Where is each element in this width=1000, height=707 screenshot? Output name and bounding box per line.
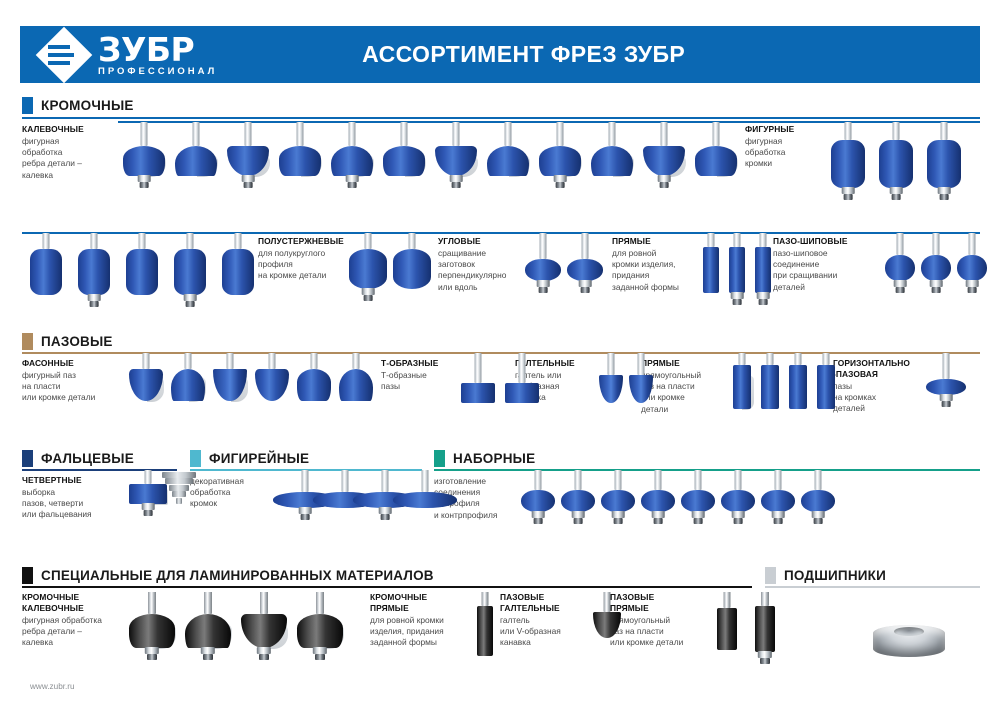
router-bit xyxy=(122,233,162,309)
label-spec-kromochnye-kalevochnye: КРОМОЧНЫЕ КАЛЕВОЧНЫЕ фигурная обработка … xyxy=(22,592,132,649)
router-bit xyxy=(752,233,774,307)
label-desc: прямоугольный паз на пласти или кромке д… xyxy=(610,615,710,649)
rabbet-bearing-set-icon xyxy=(162,472,198,512)
section-chip xyxy=(190,450,201,467)
bearing-product-image xyxy=(873,625,945,657)
router-bit xyxy=(828,122,868,202)
router-bit xyxy=(212,353,248,415)
router-bit xyxy=(956,233,988,295)
section-header-nabornye: НАБОРНЫЕ xyxy=(434,449,535,467)
section-header-figureynye: ФИГИРЕЙНЫЕ xyxy=(190,449,309,467)
section-title: НАБОРНЫЕ xyxy=(453,451,535,466)
router-bit xyxy=(884,233,916,295)
label-title: ПАЗО-ШИПОВЫЕ xyxy=(773,236,865,247)
label-kalevochnye: КАЛЕВОЧНЫЕ фигурная обработка ребра дета… xyxy=(22,124,127,181)
router-bit xyxy=(296,353,332,415)
router-bit xyxy=(628,353,654,417)
router-bit xyxy=(876,122,916,202)
router-bit xyxy=(920,233,952,295)
router-bit xyxy=(700,233,722,307)
label-title: ПРЯМЫЕ xyxy=(612,236,702,247)
router-bit xyxy=(814,353,838,423)
router-bit xyxy=(524,233,562,295)
section-title: КРОМОЧНЫЕ xyxy=(41,98,134,113)
router-bit xyxy=(925,353,967,409)
label-chetvertnye: ЧЕТВЕРТНЫЕ выборка пазов, четверти или ф… xyxy=(22,475,127,521)
label-desc: фигурный паз на пласти или кромке детали xyxy=(22,370,130,404)
router-bit xyxy=(128,353,164,415)
router-bit xyxy=(598,353,624,417)
router-bit xyxy=(392,470,458,522)
router-bit xyxy=(520,470,556,526)
router-bit xyxy=(800,470,836,526)
label-desc: декоративная обработка кромок xyxy=(190,476,272,510)
section-title: ФИГИРЕЙНЫЕ xyxy=(209,451,309,466)
label-desc: фигурная обработка кромки xyxy=(745,136,825,170)
label-polusterzhnevye: ПОЛУСТЕРЖНЕВЫЕ для полукруглого профиля … xyxy=(258,236,358,282)
router-bit xyxy=(715,592,739,664)
label-t-obraznye: Т-ОБРАЗНЫЕ Т-образные пазы xyxy=(381,358,461,392)
section-title: ФАЛЬЦЕВЫЕ xyxy=(41,451,134,466)
router-bit xyxy=(122,122,166,190)
router-bit xyxy=(26,233,66,309)
router-bit xyxy=(254,353,290,415)
section-header-kromochnye: КРОМОЧНЫЕ xyxy=(22,96,134,114)
router-bit xyxy=(760,470,796,526)
label-spec-kromochnye-pryamye: КРОМОЧНЫЕ ПРЯМЫЕ для ровной кромки издел… xyxy=(370,592,475,649)
router-bit xyxy=(600,470,636,526)
section-title: ПАЗОВЫЕ xyxy=(41,334,113,349)
brand-logo: ЗУБР ПРОФЕССИОНАЛ xyxy=(20,33,217,77)
router-bit xyxy=(486,122,530,190)
router-bit xyxy=(434,122,478,190)
label-title: ФИГУРНЫЕ xyxy=(745,124,825,135)
label-gorizontalno-pazovaya: ГОРИЗОНТАЛЬНО -ПАЗОВАЯ пазы на кромках д… xyxy=(833,358,928,415)
section-header-faltsevye: ФАЛЬЦЕВЫЕ xyxy=(22,449,134,467)
router-bit xyxy=(758,353,782,423)
section-chip xyxy=(22,567,33,584)
router-bit xyxy=(218,233,258,309)
label-fasonnye: ФАСОННЫЕ фигурный паз на пласти или кром… xyxy=(22,358,130,404)
section-header-podshipniki: ПОДШИПНИКИ xyxy=(765,566,886,584)
label-desc: пазо-шиповое соединение при сращивании д… xyxy=(773,248,865,293)
label-title: ГОРИЗОНТАЛЬНО -ПАЗОВАЯ xyxy=(833,358,928,380)
label-title: Т-ОБРАЗНЫЕ xyxy=(381,358,461,369)
router-bit xyxy=(170,233,210,309)
router-bit xyxy=(694,122,738,190)
label-pazo-shipovye: ПАЗО-ШИПОВЫЕ пазо-шиповое соединение при… xyxy=(773,236,865,293)
router-bit xyxy=(392,233,432,303)
label-desc: фигурная обработка ребра детали – калевк… xyxy=(22,136,127,181)
label-desc: Т-образные пазы xyxy=(381,370,461,392)
section-title: СПЕЦИАЛЬНЫЕ ДЛЯ ЛАМИНИРОВАННЫХ МАТЕРИАЛО… xyxy=(41,568,434,583)
brand-name: ЗУБР xyxy=(98,33,217,66)
label-pryamye-pazovye: ПРЯМЫЕ прямоугольный паз на пласти или к… xyxy=(641,358,733,415)
section-header-pazovye: ПАЗОВЫЕ xyxy=(22,332,113,350)
router-bit xyxy=(592,592,622,652)
label-title: ФАСОННЫЕ xyxy=(22,358,130,369)
row-rail-2 xyxy=(22,232,980,234)
label-uglovye: УГЛОВЫЕ сращивание заготовок перпендикул… xyxy=(438,236,526,293)
router-bit xyxy=(538,122,582,190)
router-bit xyxy=(786,353,810,423)
router-bit xyxy=(752,592,778,666)
router-bit xyxy=(128,592,176,662)
brand-tagline: ПРОФЕССИОНАЛ xyxy=(98,67,217,77)
label-pryamye-kromochnye: ПРЯМЫЕ для ровной кромки изделия, придан… xyxy=(612,236,702,293)
poster-root: ЗУБР ПРОФЕССИОНАЛ АССОРТИМЕНТ ФРЕЗ ЗУБР … xyxy=(0,0,1000,707)
section-chip xyxy=(765,567,776,584)
router-bit xyxy=(640,470,676,526)
label-desc: сращивание заготовок перпендикулярно или… xyxy=(438,248,526,293)
router-bit xyxy=(642,122,686,190)
router-bit xyxy=(184,592,232,662)
zubr-diamond-arrow-icon xyxy=(42,33,86,77)
page-title: АССОРТИМЕНТ ФРЕЗ ЗУБР xyxy=(217,41,980,68)
router-bit xyxy=(730,353,754,423)
label-title: УГЛОВЫЕ xyxy=(438,236,526,247)
label-title: ПАЗОВЫЕ ГАЛТЕЛЬНЫЕ xyxy=(500,592,592,614)
section-title: ПОДШИПНИКИ xyxy=(784,568,886,583)
label-spec-pazovye-galtelnye: ПАЗОВЫЕ ГАЛТЕЛЬНЫЕ галтель или V-образна… xyxy=(500,592,592,649)
label-desc: для ровной кромки изделия, придания зада… xyxy=(612,248,702,293)
label-title: ПОЛУСТЕРЖНЕВЫЕ xyxy=(258,236,358,247)
router-bit xyxy=(726,233,748,307)
label-desc: для полукруглого профиля на кромке детал… xyxy=(258,248,358,282)
footer-url: www.zubr.ru xyxy=(30,682,75,691)
label-figureynye-desc: декоративная обработка кромок xyxy=(190,475,272,510)
router-bit xyxy=(720,470,756,526)
router-bit xyxy=(924,122,964,202)
router-bit xyxy=(74,233,114,309)
router-bit xyxy=(296,592,344,662)
router-bit xyxy=(382,122,426,190)
router-bit xyxy=(174,122,218,190)
label-desc: галтель или V-образная канавка xyxy=(500,615,592,649)
label-desc: пазы на кромках деталей xyxy=(833,381,928,415)
router-bit xyxy=(566,233,604,295)
section-chip xyxy=(22,450,33,467)
label-title: КРОМОЧНЫЕ КАЛЕВОЧНЫЕ xyxy=(22,592,132,614)
section-chip xyxy=(22,97,33,114)
router-bit xyxy=(226,122,270,190)
label-desc: выборка пазов, четверти или фальцевания xyxy=(22,487,127,521)
router-bit xyxy=(278,122,322,190)
label-title: КРОМОЧНЫЕ ПРЯМЫЕ xyxy=(370,592,475,614)
label-title: ПРЯМЫЕ xyxy=(641,358,733,369)
section-chip xyxy=(22,333,33,350)
section-rule-special xyxy=(22,586,752,588)
router-bit xyxy=(338,353,374,415)
label-title: КАЛЕВОЧНЫЕ xyxy=(22,124,127,135)
label-desc: для ровной кромки изделия, придания зада… xyxy=(370,615,475,649)
router-bit xyxy=(590,122,634,190)
label-desc: прямоугольный паз на пласти или кромке д… xyxy=(641,370,733,415)
router-bit xyxy=(504,353,540,417)
section-rule-kromochnye xyxy=(22,117,980,119)
label-desc: фигурная обработка ребра детали – калевк… xyxy=(22,615,132,649)
label-title: ПАЗОВЫЕ ПРЯМЫЕ xyxy=(610,592,710,614)
label-title: ЧЕТВЕРТНЫЕ xyxy=(22,475,127,486)
router-bit xyxy=(460,353,496,417)
section-header-special-laminated: СПЕЦИАЛЬНЫЕ ДЛЯ ЛАМИНИРОВАННЫХ МАТЕРИАЛО… xyxy=(22,566,434,584)
section-chip xyxy=(434,450,445,467)
router-bit xyxy=(560,470,596,526)
router-bit xyxy=(170,353,206,415)
router-bit xyxy=(474,592,496,670)
router-bit xyxy=(330,122,374,190)
label-figurnye: ФИГУРНЫЕ фигурная обработка кромки xyxy=(745,124,825,170)
label-spec-pazovye-pryamye: ПАЗОВЫЕ ПРЯМЫЕ прямоугольный паз на плас… xyxy=(610,592,710,649)
section-rule-podshipniki xyxy=(765,586,980,588)
router-bit xyxy=(240,592,288,662)
page-header: ЗУБР ПРОФЕССИОНАЛ АССОРТИМЕНТ ФРЕЗ ЗУБР xyxy=(20,26,980,83)
router-bit xyxy=(680,470,716,526)
